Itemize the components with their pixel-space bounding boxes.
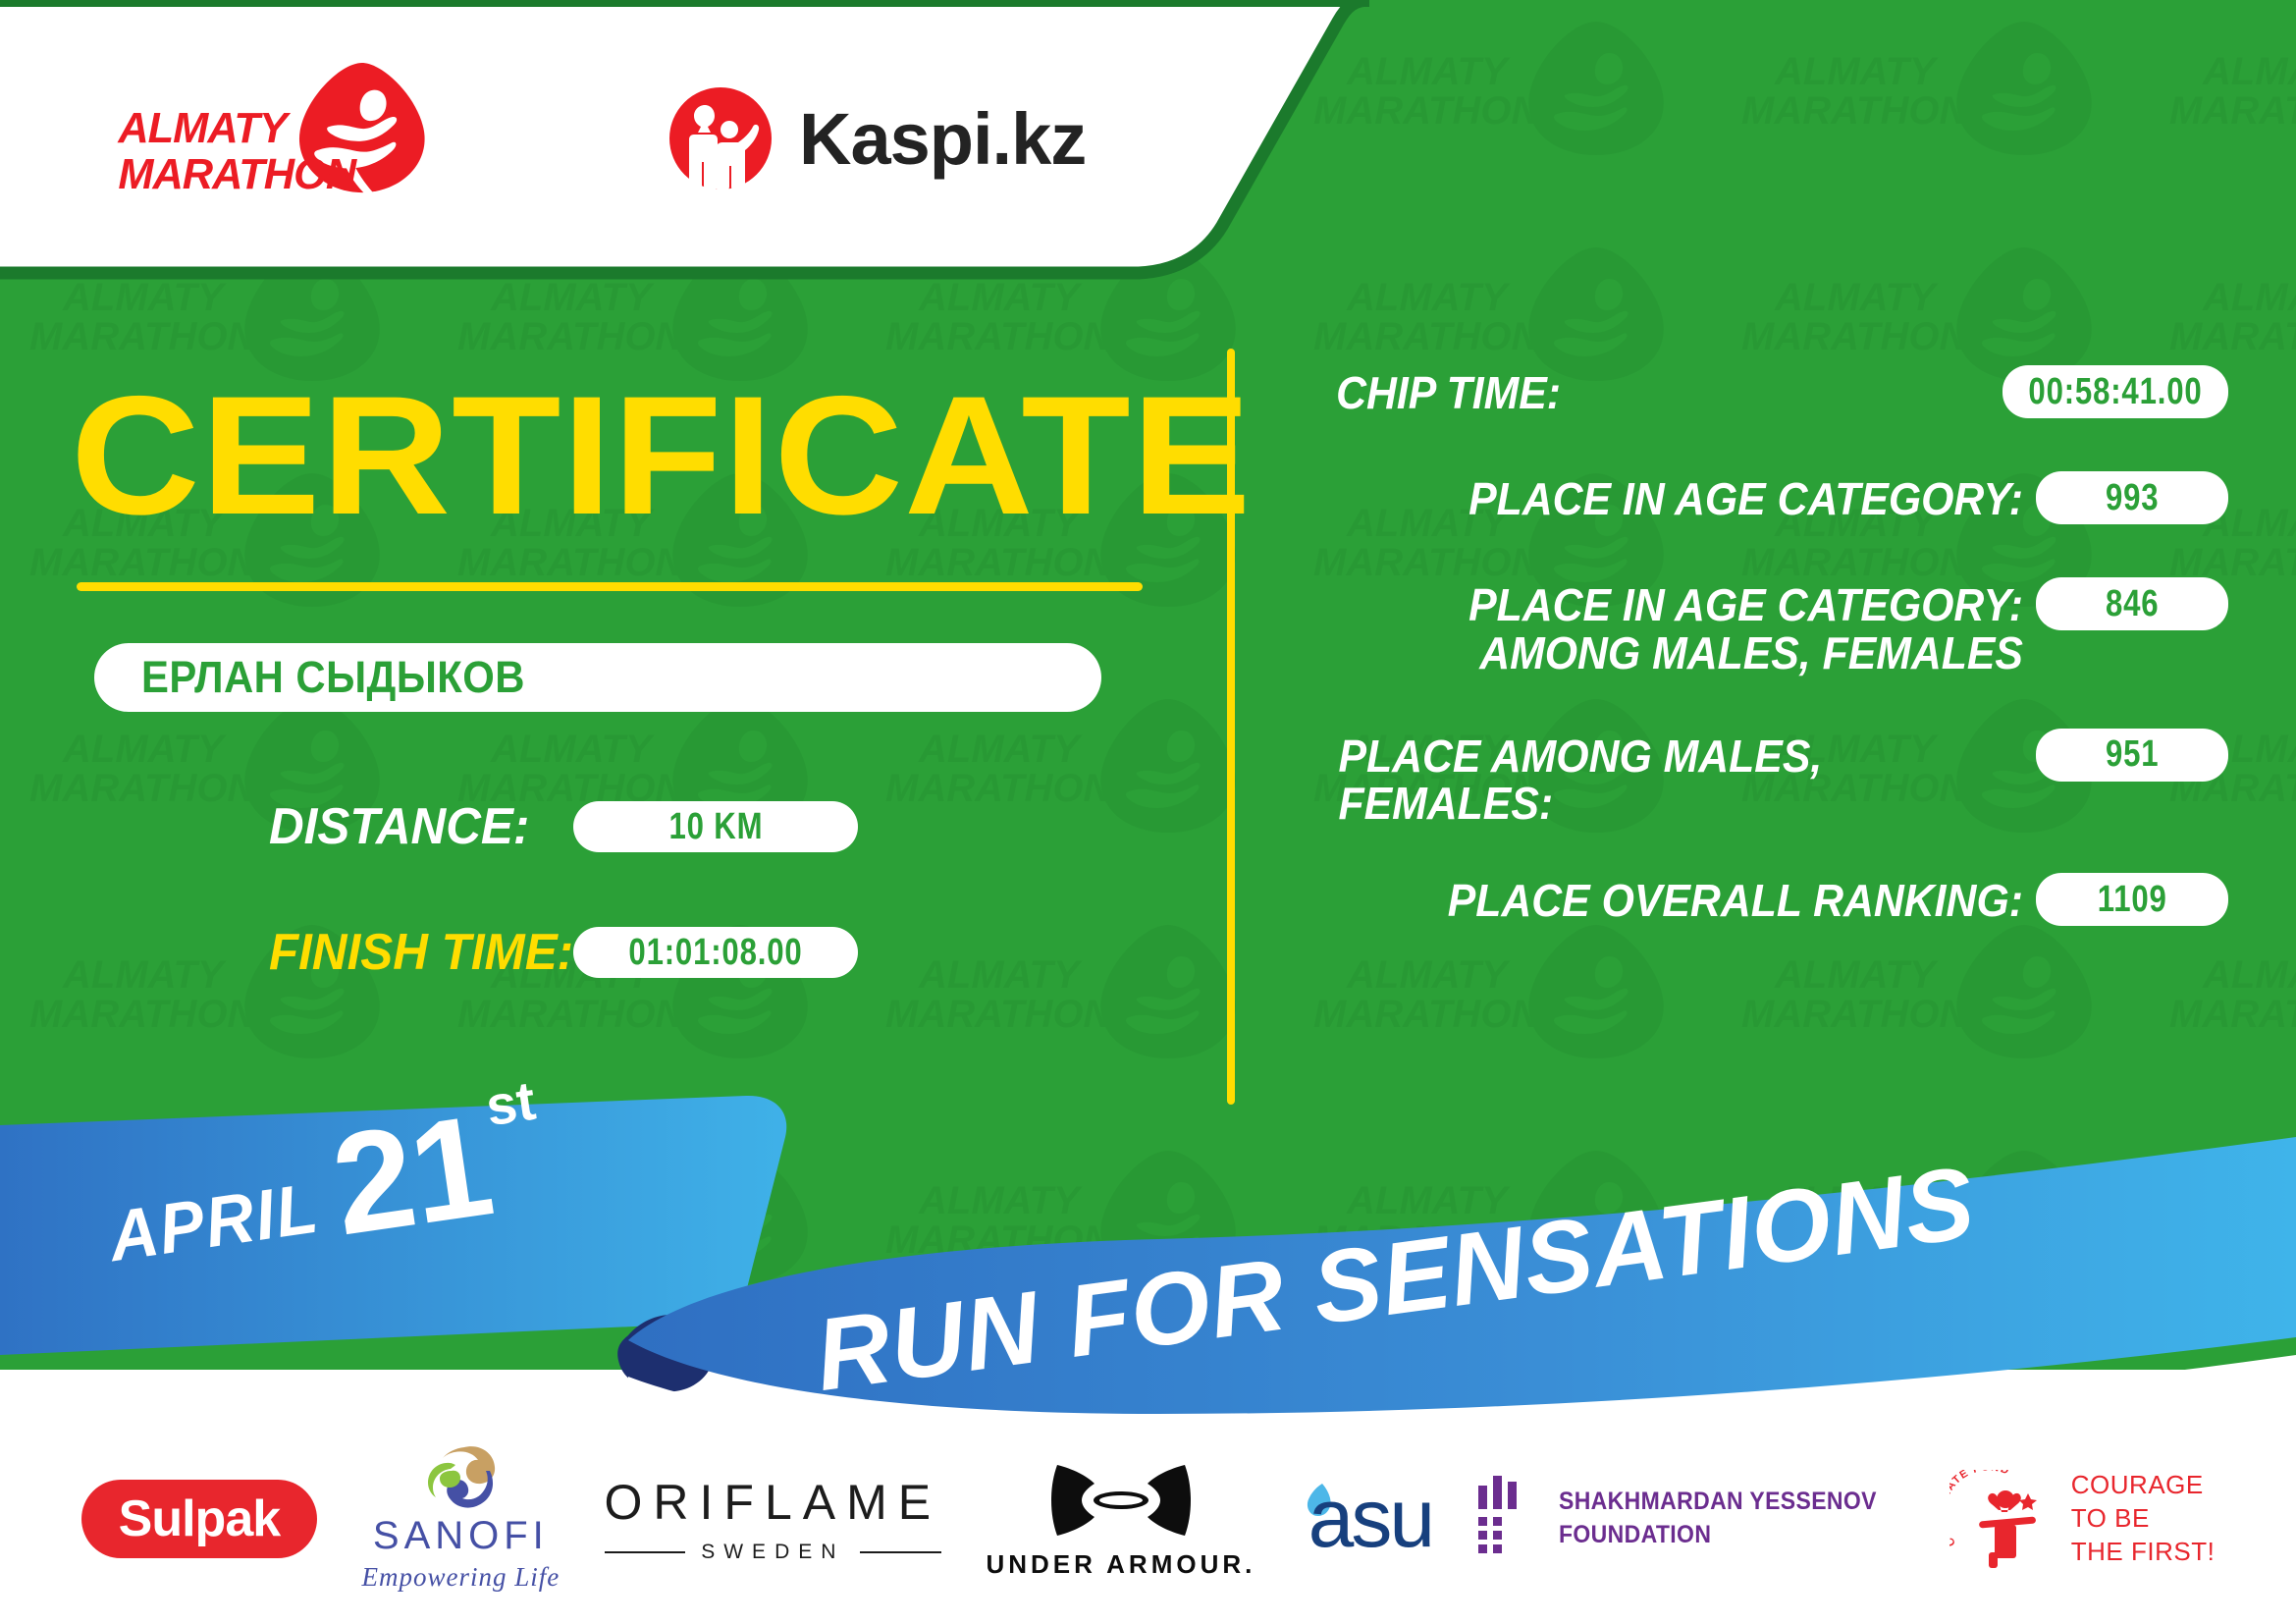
event-day: 21 <box>326 1106 497 1244</box>
stat-row-chip-time: CHIP TIME: 00:58:41.00 <box>1286 369 2228 418</box>
yessenov-wordmark: SHAKHMARDAN YESSENOV FOUNDATION <box>1559 1486 1877 1552</box>
oriflame-rule-left <box>605 1551 686 1553</box>
asu-wordmark: asu <box>1308 1482 1432 1556</box>
oriflame-rule-right <box>860 1551 941 1553</box>
sulpak-wordmark: Sulpak <box>119 1489 281 1548</box>
sanofi-mark-icon <box>421 1445 500 1510</box>
title-underline <box>77 582 1143 591</box>
place-gender-label: PLACE AMONG MALES, FEMALES: <box>1338 732 2036 829</box>
place-gender-value: 951 <box>2106 733 2159 776</box>
place-age-gender-value-pill: 846 <box>2036 577 2228 630</box>
distance-value: 10 KM <box>668 806 763 848</box>
under-armour-mark-icon <box>1047 1459 1195 1542</box>
finish-time-row: FINISH TIME: 01:01:08.00 <box>269 923 858 982</box>
courage-line-3: THE FIRST! <box>2071 1536 2216 1569</box>
finish-time-label: FINISH TIME: <box>269 923 540 982</box>
place-overall-value: 1109 <box>2098 879 2167 921</box>
page-title: CERTIFICATE <box>71 371 1252 540</box>
place-age-label: PLACE IN AGE CATEGORY: <box>1338 475 2036 523</box>
place-age-value-pill: 993 <box>2036 471 2228 524</box>
yessenov-mark-icon <box>1476 1474 1533 1564</box>
courage-line-1: COURAGE <box>2071 1469 2216 1502</box>
sponsor-bar: Sulpak SANOFI Empowering Life ORIFLAME S… <box>0 1414 2296 1624</box>
kaspi-mark-icon <box>667 85 774 191</box>
column-divider <box>1227 349 1235 1105</box>
courage-wordmark: COURAGE TO BE THE FIRST! <box>2071 1469 2216 1568</box>
chip-time-value-pill: 00:58:41.00 <box>2002 365 2228 418</box>
place-age-gender-label: PLACE IN AGE CATEGORY: AMONG MALES, FEMA… <box>1338 581 2036 677</box>
sanofi-wordmark: SANOFI <box>373 1514 549 1558</box>
oriflame-country: SWEDEN <box>701 1541 844 1564</box>
stat-row-place-gender: PLACE AMONG MALES, FEMALES: 951 <box>1286 732 2228 829</box>
courage-line-2: TO BE <box>2071 1502 2216 1536</box>
sponsor-oriflame: ORIFLAME SWEDEN <box>605 1474 942 1564</box>
sponsor-courage-fund: CORPORATE FUND COURAGE TO BE THE FIRST! <box>1949 1469 2216 1568</box>
place-gender-value-pill: 951 <box>2036 729 2228 782</box>
oriflame-wordmark: ORIFLAME <box>605 1474 942 1531</box>
under-armour-wordmark: UNDER ARMOUR. <box>986 1549 1255 1580</box>
place-overall-label: PLACE OVERALL RANKING: <box>1338 877 2036 925</box>
sponsor-asu: asu <box>1301 1482 1432 1556</box>
distance-label: DISTANCE: <box>269 797 540 856</box>
distance-row: DISTANCE: 10 KM <box>269 797 858 856</box>
yessenov-line-2: FOUNDATION <box>1559 1519 1877 1552</box>
certificate-page: ALMATY MARATHON ALMATY MARATHON <box>0 0 2296 1624</box>
place-age-gender-value: 846 <box>2106 583 2159 625</box>
stat-row-place-overall: PLACE OVERALL RANKING: 1109 <box>1286 877 2228 926</box>
sponsor-sulpak: Sulpak <box>81 1480 318 1558</box>
oriflame-sub: SWEDEN <box>605 1541 942 1564</box>
yessenov-line-1: SHAKHMARDAN YESSENOV <box>1559 1486 1877 1519</box>
sponsor-under-armour: UNDER ARMOUR. <box>986 1459 1255 1580</box>
place-age-value: 993 <box>2106 477 2159 519</box>
svg-text:ALMATY: ALMATY <box>117 105 292 152</box>
chip-time-label: CHIP TIME: <box>1336 369 2002 417</box>
finish-time-value: 01:01:08.00 <box>628 932 802 974</box>
sanofi-tagline: Empowering Life <box>361 1562 560 1593</box>
finish-time-value-pill: 01:01:08.00 <box>573 927 858 978</box>
results-list: CHIP TIME: 00:58:41.00 PLACE IN AGE CATE… <box>1286 369 2228 961</box>
athlete-name: ЕРЛАН СЫДЫКОВ <box>141 652 525 703</box>
stat-row-place-age-gender: PLACE IN AGE CATEGORY: AMONG MALES, FEMA… <box>1286 581 2228 677</box>
svg-text:MARATHON: MARATHON <box>118 151 358 198</box>
distance-value-pill: 10 KM <box>573 801 858 852</box>
sponsor-yessenov-foundation: SHAKHMARDAN YESSENOV FOUNDATION <box>1476 1474 1904 1564</box>
almaty-marathon-logo: ALMATY MARATHON <box>116 61 440 198</box>
sponsor-sanofi: SANOFI Empowering Life <box>361 1445 560 1593</box>
place-overall-value-pill: 1109 <box>2036 873 2228 926</box>
event-day-ordinal: st <box>482 1067 540 1137</box>
stat-row-place-age: PLACE IN AGE CATEGORY: 993 <box>1286 475 2228 524</box>
athlete-name-field: ЕРЛАН СЫДЫКОВ <box>94 643 1101 712</box>
courage-fund-mark-icon: CORPORATE FUND <box>1949 1470 2057 1568</box>
kaspi-wordmark: Kaspi.kz <box>799 97 1086 181</box>
kaspi-logo: Kaspi.kz <box>667 84 1086 192</box>
chip-time-value: 00:58:41.00 <box>2028 371 2202 413</box>
